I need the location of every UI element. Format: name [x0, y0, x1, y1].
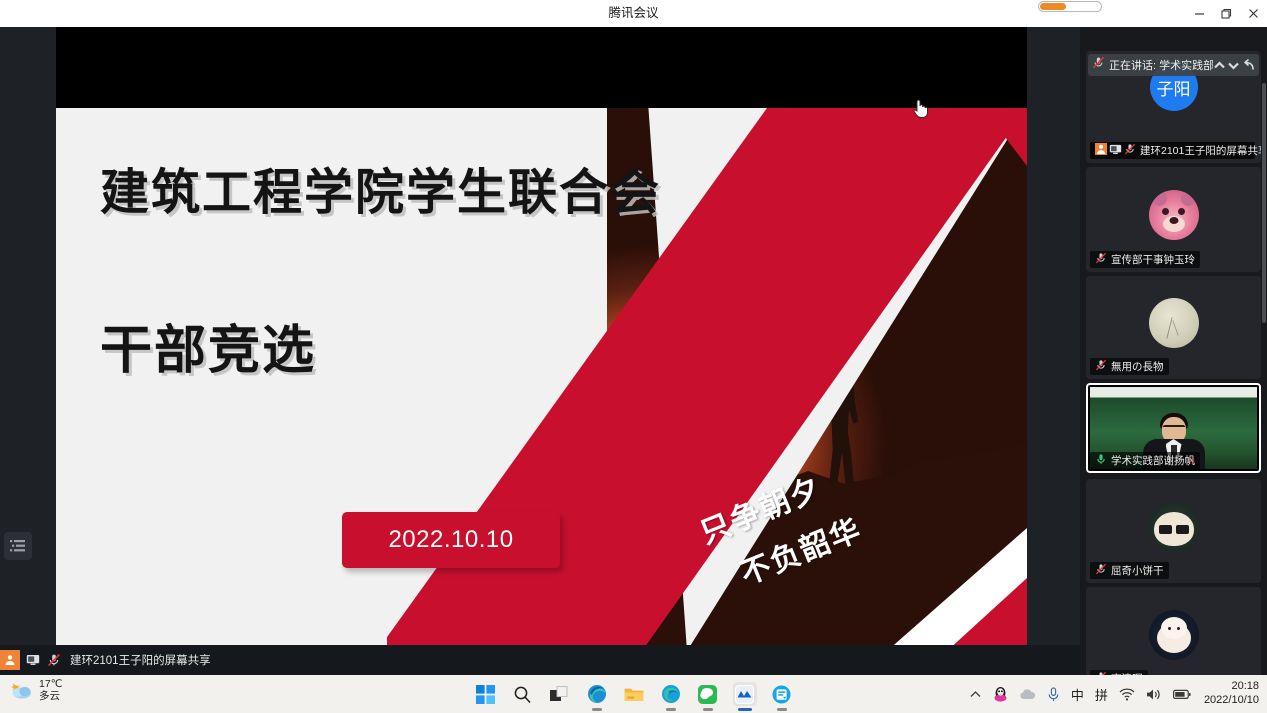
slide-title-line1: 建筑工程学院学生联合会: [100, 153, 661, 224]
left-rail: [0, 27, 56, 675]
task-view-button[interactable]: [548, 682, 572, 706]
participant-name: 建环2101王子阳的屏幕共享: [1140, 143, 1261, 158]
system-tray: 中 拼 20:18 2022/10: [969, 675, 1259, 713]
avatar-image-bear: [1149, 190, 1199, 240]
tray-overflow-button[interactable]: [969, 688, 982, 701]
participant-tile[interactable]: 李清晖: [1086, 587, 1261, 675]
participant-tile[interactable]: 無用の長物: [1086, 276, 1261, 379]
file-explorer-button[interactable]: [622, 682, 646, 706]
participant-tile[interactable]: 学术实践部谢扬帆: [1086, 383, 1261, 473]
participant-name-bar: 宣传部干事钟玉玲: [1090, 251, 1200, 268]
volume-fill: [1040, 3, 1066, 10]
weather-description: 多云: [39, 690, 62, 702]
participants-panel: 正在讲话: 学术实践部谢扬... 子阳: [1080, 27, 1267, 675]
avatar: [1149, 298, 1199, 348]
chevron-up-icon: [1213, 59, 1226, 72]
speaker-icon: [1146, 688, 1162, 701]
clock-time: 20:18: [1231, 680, 1259, 694]
tencent-meeting-icon: [735, 685, 754, 704]
qq-tray-icon[interactable]: [993, 686, 1008, 702]
share-status-pill: 建环2101王子阳的屏幕共享: [0, 645, 211, 675]
avatar-image-white-cat: [1149, 610, 1199, 660]
taskbar-app-buttons: [474, 682, 794, 706]
edge-icon: [587, 684, 607, 704]
task-view-icon: [550, 686, 569, 703]
participant-name: 宣传部干事钟玉玲: [1111, 252, 1195, 267]
window-controls: [1186, 0, 1267, 27]
participant-name: 学术实践部谢扬帆: [1111, 453, 1195, 468]
volume-tray-icon[interactable]: [1146, 688, 1162, 701]
meeting-body: 建筑工程学院学生联合会 干部竞选 2022.10.10 只争朝夕 不负韶华: [0, 27, 1267, 675]
volume-indicator[interactable]: [1038, 1, 1102, 12]
windows-taskbar: 17℃ 多云: [0, 675, 1267, 713]
search-button[interactable]: [511, 682, 535, 706]
speaker-nav-controls[interactable]: [1213, 59, 1255, 72]
cloud-icon: [1019, 688, 1036, 700]
participant-name: 屈奇小饼干: [1111, 563, 1164, 578]
clock-date: 2022/10/10: [1204, 694, 1259, 708]
battery-icon: [1173, 689, 1191, 700]
speaker-mute-icon: [1092, 56, 1105, 74]
participant-list-icon[interactable]: [4, 532, 32, 560]
collapse-arrow-icon: [1241, 59, 1255, 72]
search-icon: [513, 685, 532, 704]
screen-share-icon: [1107, 142, 1122, 160]
maximize-icon[interactable]: [1213, 0, 1240, 27]
browser-360-icon: [661, 684, 681, 704]
participant-name-bar: 建环2101王子阳的屏幕共享: [1090, 142, 1255, 159]
avatar-image-cat: [1149, 502, 1199, 552]
participants-scrollbar[interactable]: [1262, 83, 1266, 323]
folder-icon: [624, 686, 644, 703]
wechat-icon: [698, 685, 717, 704]
share-status-label: 建环2101王子阳的屏幕共享: [70, 652, 211, 668]
chevron-down-icon: [1227, 59, 1240, 72]
avatar: [1149, 190, 1199, 240]
wps-icon: [772, 685, 791, 704]
wifi-icon: [1119, 688, 1135, 701]
onedrive-tray-icon[interactable]: [1019, 688, 1036, 700]
microphone-muted-icon: [1122, 142, 1136, 160]
tencent-meeting-window: 腾讯会议: [0, 0, 1267, 675]
screen-share-icon: [24, 651, 42, 669]
partly-cloudy-icon: [8, 678, 34, 702]
taskbar-clock[interactable]: 20:18 2022/10/10: [1204, 680, 1259, 708]
participant-tile[interactable]: 宣传部干事钟玉玲: [1086, 167, 1261, 272]
battery-tray-icon[interactable]: [1173, 689, 1191, 700]
title-bar: 腾讯会议: [0, 0, 1267, 27]
slide-date-badge: 2022.10.10: [342, 512, 560, 568]
share-status-bar: 建环2101王子阳的屏幕共享: [0, 645, 1080, 675]
windows-logo-icon: [476, 685, 495, 704]
shared-screen-stage: 建筑工程学院学生联合会 干部竞选 2022.10.10 只争朝夕 不负韶华: [0, 27, 1080, 675]
weather-widget[interactable]: 17℃ 多云: [8, 678, 62, 702]
microphone-muted-icon: [45, 651, 63, 669]
presentation-slide: 建筑工程学院学生联合会 干部竞选 2022.10.10 只争朝夕 不负韶华: [56, 108, 1027, 651]
close-icon[interactable]: [1240, 0, 1267, 27]
active-speaker-banner: 正在讲话: 学术实践部谢扬...: [1088, 54, 1259, 76]
wechat-button[interactable]: [696, 682, 720, 706]
host-person-icon: [1095, 142, 1107, 160]
ime-mode-indicator[interactable]: 拼: [1095, 685, 1108, 704]
chevron-up-icon: [969, 688, 982, 701]
avatar-image-moon: [1149, 298, 1199, 348]
slide-date-text: 2022.10.10: [388, 526, 513, 554]
screen-share-area[interactable]: 建筑工程学院学生联合会 干部竞选 2022.10.10 只争朝夕 不负韶华: [56, 27, 1027, 675]
active-speaker-label: 正在讲话: 学术实践部谢扬...: [1109, 57, 1213, 73]
network-tray-icon[interactable]: [1119, 688, 1135, 701]
microphone-muted-icon: [1095, 358, 1107, 376]
minimize-icon[interactable]: [1186, 0, 1213, 27]
participant-name: 無用の長物: [1111, 359, 1164, 374]
microphone-on-icon: [1095, 452, 1107, 470]
participant-name-bar: 学术实践部谢扬帆: [1090, 452, 1200, 469]
microphone-icon: [1047, 687, 1060, 702]
microphone-muted-icon: [1095, 562, 1107, 580]
wps-button[interactable]: [770, 682, 794, 706]
weather-temperature: 17℃: [39, 678, 62, 690]
start-button[interactable]: [474, 682, 498, 706]
avatar: [1149, 610, 1199, 660]
ime-language-indicator[interactable]: 中: [1071, 685, 1084, 704]
edge-button[interactable]: [585, 682, 609, 706]
microphone-muted-icon: [1095, 251, 1107, 269]
avatar: [1149, 502, 1199, 552]
participant-name-bar: 無用の長物: [1090, 358, 1169, 375]
slide-title-line2: 干部竞选: [100, 308, 316, 383]
participant-tile[interactable]: 屈奇小饼干: [1086, 479, 1261, 583]
host-person-icon: [0, 650, 20, 670]
qq-penguin-icon: [993, 686, 1008, 702]
tencent-meeting-button[interactable]: [733, 682, 757, 706]
browser-360-button[interactable]: [659, 682, 683, 706]
microphone-tray-icon[interactable]: [1047, 687, 1060, 702]
participant-name-bar: 屈奇小饼干: [1090, 562, 1169, 579]
